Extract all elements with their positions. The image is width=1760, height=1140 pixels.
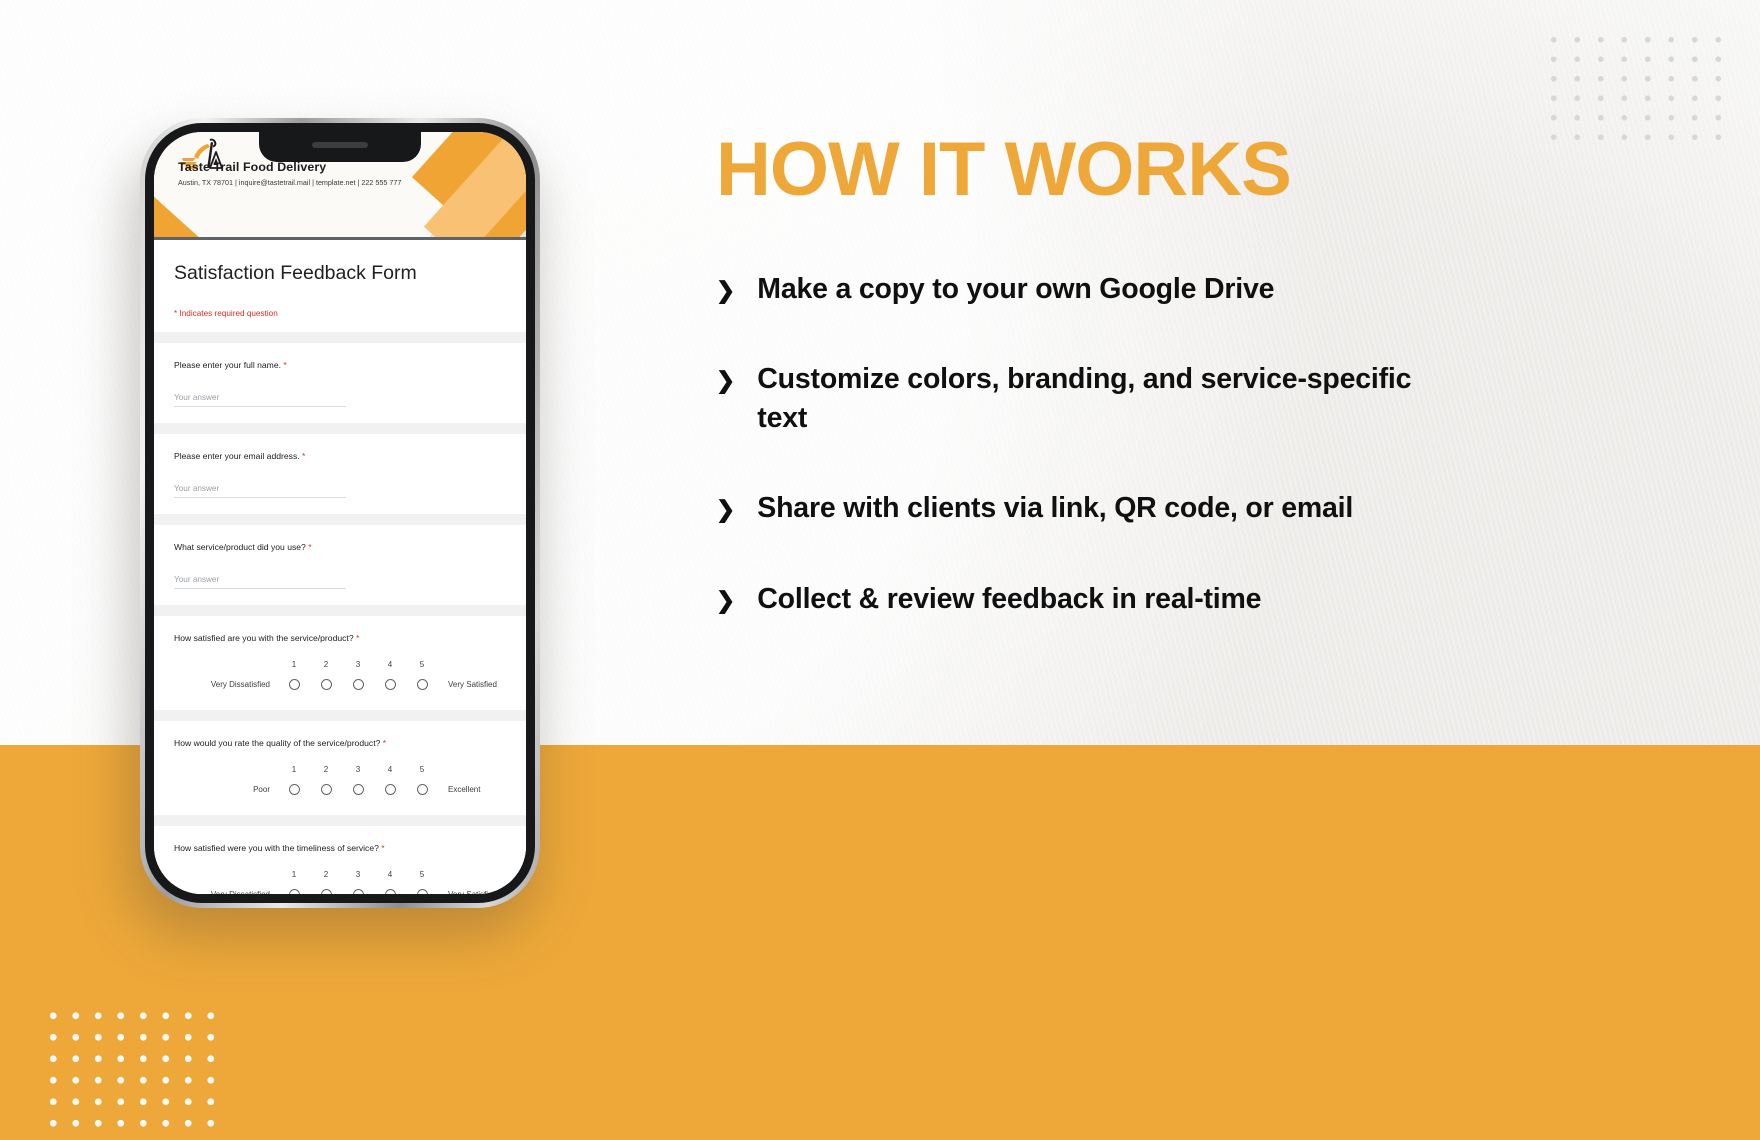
required-note-card: * Indicates required question bbox=[154, 305, 526, 332]
chevron-right-icon: ❯ bbox=[716, 589, 735, 612]
scale-number: 4 bbox=[374, 870, 406, 879]
dot-grid-bottom-left bbox=[42, 1005, 217, 1127]
required-asterisk: * bbox=[356, 633, 359, 643]
scale-number: 2 bbox=[310, 660, 342, 669]
brand-contact-line: Austin, TX 78701 | inquire@tastetrail.ma… bbox=[178, 178, 401, 187]
required-asterisk: * bbox=[283, 360, 286, 370]
card-divider bbox=[154, 605, 526, 616]
radio-option-1[interactable] bbox=[278, 679, 310, 690]
radio-option-2[interactable] bbox=[310, 889, 342, 894]
answer-input-service-used[interactable]: Your answer bbox=[174, 575, 346, 589]
scale-number: 1 bbox=[278, 765, 310, 774]
scale-high-label: Very Satisfied bbox=[438, 890, 497, 894]
question-card-full-name[interactable]: Please enter your full name. * Your answ… bbox=[154, 343, 526, 423]
list-item: ❯ Customize colors, branding, and servic… bbox=[716, 360, 1676, 437]
scale-number: 4 bbox=[374, 765, 406, 774]
question-card-timeliness[interactable]: How satisfied were you with the timeline… bbox=[154, 826, 526, 894]
question-label: What service/product did you use? * bbox=[174, 541, 506, 553]
scale-row[interactable]: Very Dissatisfied Very Satisfied bbox=[174, 889, 506, 894]
brand-name: Taste Trail Food Delivery bbox=[178, 160, 401, 174]
card-divider bbox=[154, 332, 526, 343]
scale-number: 2 bbox=[310, 870, 342, 879]
bullet-text: Share with clients via link, QR code, or… bbox=[757, 489, 1353, 527]
required-asterisk: * bbox=[383, 738, 386, 748]
scale-number: 4 bbox=[374, 660, 406, 669]
question-card-service-used[interactable]: What service/product did you use? * Your… bbox=[154, 525, 526, 605]
phone-mockup: Taste Trail Food Delivery Austin, TX 787… bbox=[140, 118, 540, 908]
radio-option-5[interactable] bbox=[406, 889, 438, 894]
phone-speaker-icon bbox=[312, 142, 368, 148]
scale-number: 3 bbox=[342, 765, 374, 774]
list-item: ❯ Make a copy to your own Google Drive bbox=[716, 270, 1676, 308]
scale-number: 2 bbox=[310, 765, 342, 774]
chevron-right-icon: ❯ bbox=[716, 498, 735, 521]
scale-number: 1 bbox=[278, 660, 310, 669]
radio-option-4[interactable] bbox=[374, 889, 406, 894]
scale-header: 1 2 3 4 5 bbox=[174, 870, 506, 879]
radio-option-1[interactable] bbox=[278, 889, 310, 894]
radio-option-3[interactable] bbox=[342, 889, 374, 894]
radio-option-2[interactable] bbox=[310, 784, 342, 795]
scale-low-label: Poor bbox=[174, 785, 278, 794]
scale-number: 3 bbox=[342, 660, 374, 669]
dot-grid-top-right bbox=[1542, 30, 1732, 140]
letterhead-orange-corner-shape bbox=[154, 184, 222, 237]
scale-number: 5 bbox=[406, 660, 438, 669]
question-label: How would you rate the quality of the se… bbox=[174, 737, 506, 749]
scale-number: 3 bbox=[342, 870, 374, 879]
page-title: HOW IT WORKS bbox=[716, 132, 1676, 208]
question-label: Please enter your email address. * bbox=[174, 450, 506, 462]
form-title: Satisfaction Feedback Form bbox=[154, 237, 526, 305]
question-label: How satisfied were you with the timeline… bbox=[174, 842, 506, 854]
scale-high-label: Excellent bbox=[438, 785, 480, 794]
question-card-email[interactable]: Please enter your email address. * Your … bbox=[154, 434, 526, 514]
card-divider bbox=[154, 815, 526, 826]
scale-number: 1 bbox=[278, 870, 310, 879]
question-card-quality[interactable]: How would you rate the quality of the se… bbox=[154, 721, 526, 815]
bullet-text: Collect & review feedback in real-time bbox=[757, 580, 1261, 618]
scale-number: 5 bbox=[406, 765, 438, 774]
list-item: ❯ Share with clients via link, QR code, … bbox=[716, 489, 1676, 527]
radio-option-5[interactable] bbox=[406, 679, 438, 690]
question-card-satisfaction[interactable]: How satisfied are you with the service/p… bbox=[154, 616, 526, 710]
letterhead-text-block: Taste Trail Food Delivery Austin, TX 787… bbox=[178, 160, 401, 187]
card-divider bbox=[154, 423, 526, 434]
scale-row[interactable]: Very Dissatisfied Very Satisfied bbox=[174, 679, 506, 690]
scale-number: 5 bbox=[406, 870, 438, 879]
required-note: * Indicates required question bbox=[174, 309, 506, 318]
question-label: How satisfied are you with the service/p… bbox=[174, 632, 506, 644]
scale-low-label: Very Dissatisfied bbox=[174, 890, 278, 894]
scale-high-label: Very Satisfied bbox=[438, 680, 497, 689]
scale-low-label: Very Dissatisfied bbox=[174, 680, 278, 689]
required-asterisk: * bbox=[308, 542, 311, 552]
radio-option-3[interactable] bbox=[342, 679, 374, 690]
radio-option-2[interactable] bbox=[310, 679, 342, 690]
phone-screen: Taste Trail Food Delivery Austin, TX 787… bbox=[154, 132, 526, 894]
radio-option-4[interactable] bbox=[374, 784, 406, 795]
card-divider bbox=[154, 710, 526, 721]
scale-header: 1 2 3 4 5 bbox=[174, 660, 506, 669]
google-form-body[interactable]: Satisfaction Feedback Form * Indicates r… bbox=[154, 237, 526, 894]
list-item: ❯ Collect & review feedback in real-time bbox=[716, 580, 1676, 618]
scale-header: 1 2 3 4 5 bbox=[174, 765, 506, 774]
answer-input-full-name[interactable]: Your answer bbox=[174, 393, 346, 407]
chevron-right-icon: ❯ bbox=[716, 369, 735, 392]
phone-body: Taste Trail Food Delivery Austin, TX 787… bbox=[145, 123, 535, 903]
question-label: Please enter your full name. * bbox=[174, 359, 506, 371]
card-divider bbox=[154, 514, 526, 525]
radio-option-3[interactable] bbox=[342, 784, 374, 795]
bullet-text: Customize colors, branding, and service-… bbox=[757, 360, 1457, 437]
scale-row[interactable]: Poor Excellent bbox=[174, 784, 506, 795]
radio-option-4[interactable] bbox=[374, 679, 406, 690]
how-it-works-panel: HOW IT WORKS ❯ Make a copy to your own G… bbox=[716, 132, 1676, 670]
required-asterisk: * bbox=[302, 451, 305, 461]
radio-option-1[interactable] bbox=[278, 784, 310, 795]
radio-option-5[interactable] bbox=[406, 784, 438, 795]
bullet-text: Make a copy to your own Google Drive bbox=[757, 270, 1274, 308]
required-asterisk: * bbox=[381, 843, 384, 853]
answer-input-email[interactable]: Your answer bbox=[174, 484, 346, 498]
chevron-right-icon: ❯ bbox=[716, 279, 735, 302]
